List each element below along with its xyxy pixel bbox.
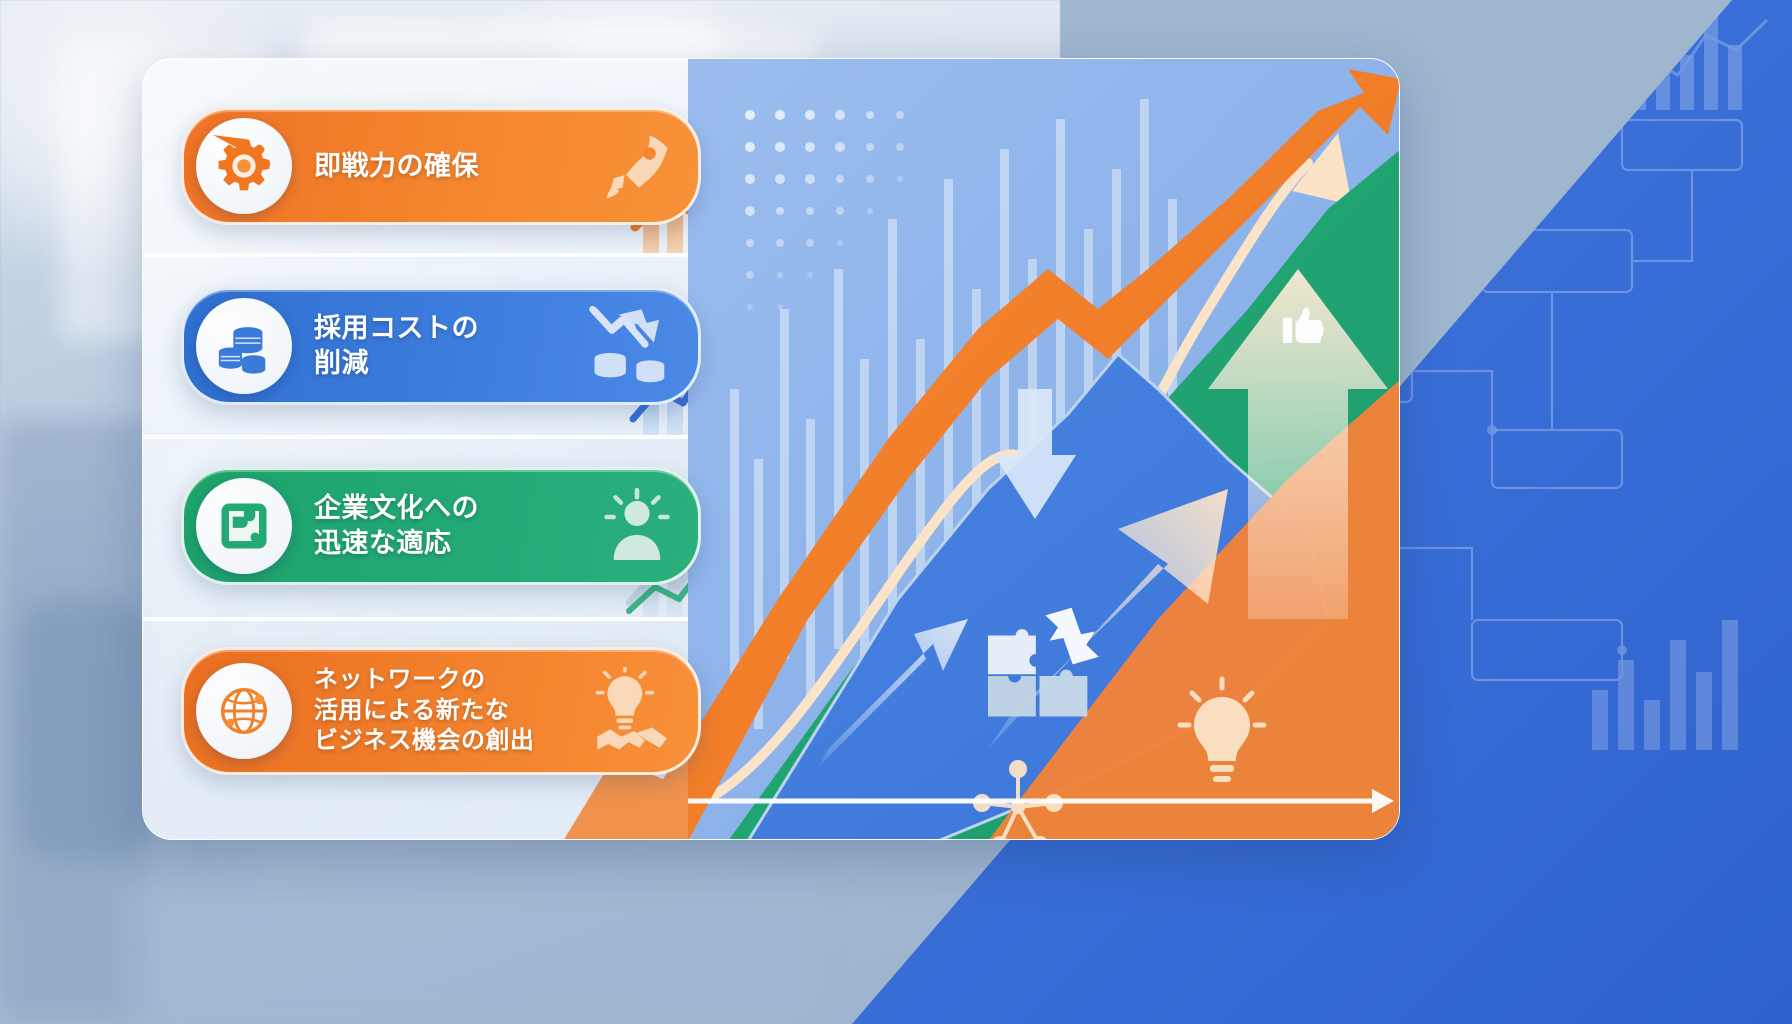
person-idea-icon	[594, 483, 680, 569]
puzzle-badge	[196, 478, 292, 574]
infographic-canvas: 即戦力の確保	[0, 0, 1792, 1024]
card-label: 即戦力の確保	[314, 149, 479, 184]
card-immediate-workforce[interactable]: 即戦力の確保	[181, 107, 701, 225]
globe-network-icon	[213, 680, 275, 742]
card-label: 企業文化への 迅速な適応	[314, 491, 479, 560]
down-trend-coins-icon	[584, 303, 680, 389]
gear-icon	[213, 135, 275, 197]
coins-badge	[196, 298, 292, 394]
growth-area-chart	[688, 59, 1400, 840]
card-label: 採用コストの 削減	[314, 311, 479, 380]
coins-icon	[213, 315, 275, 377]
card-network-opportunity[interactable]: ネットワークの 活用による新たな ビジネス機会の創出	[181, 647, 701, 775]
card-recruiting-cost[interactable]: 採用コストの 削減	[181, 287, 701, 405]
globe-badge	[196, 663, 292, 759]
benefit-card-list: 即戦力の確保	[181, 107, 701, 775]
card-label: ネットワークの 活用による新たな ビジネス機会の創出	[314, 665, 535, 757]
rocket-icon	[594, 123, 680, 209]
content-panel: 即戦力の確保	[142, 58, 1400, 840]
puzzle-icon	[214, 496, 274, 556]
card-culture-adaptation[interactable]: 企業文化への 迅速な適応	[181, 467, 701, 585]
lightbulb-handshake-icon	[588, 667, 680, 755]
gear-badge	[196, 118, 292, 214]
